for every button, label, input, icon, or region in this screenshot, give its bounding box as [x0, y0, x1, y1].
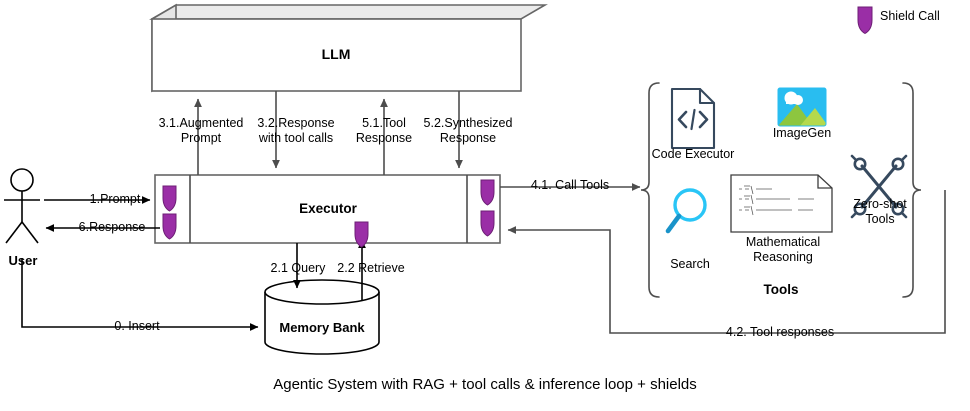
math-document-icon	[731, 175, 832, 232]
image-picture-icon	[778, 88, 828, 126]
tool-label-code-executor: Code Executor	[645, 147, 741, 162]
tool-label-mathematical-reasoning: Mathematical Reasoning	[731, 235, 835, 265]
tools-right-brace	[903, 83, 921, 297]
tool-label-imagegen: ImageGen	[760, 126, 844, 141]
edge-label-tool-responses: 4.2. Tool responses	[660, 325, 900, 340]
diagram-caption: Agentic System with RAG + tool calls & i…	[0, 376, 970, 393]
edge-label-synthesized-response: 5.2.Synthesized Response	[407, 116, 529, 146]
edge-label-call-tools: 4.1. Call Tools	[516, 178, 624, 193]
legend-shield-label: Shield Call	[880, 9, 970, 24]
tools-group-label: Tools	[736, 282, 826, 297]
llm-label: LLM	[286, 47, 386, 62]
user-label: User	[0, 253, 46, 268]
edge-label-response: 6.Response	[52, 220, 172, 235]
edge-label-retrieve: 2.2 Retrieve	[325, 261, 417, 276]
tool-label-search: Search	[655, 257, 725, 272]
memory-bank-label: Memory Bank	[272, 320, 372, 335]
edge-label-insert: 0. Insert	[62, 319, 212, 334]
edge-insert	[22, 258, 258, 327]
diagram-canvas: LLM Executor Memory Bank User Tools 1.Pr…	[0, 0, 970, 411]
code-document-icon	[672, 89, 714, 148]
edge-label-prompt: 1.Prompt	[60, 192, 170, 207]
user-actor-shape	[4, 169, 40, 243]
tool-label-zero-shot-tools: Zero-shot Tools	[841, 197, 919, 227]
executor-label: Executor	[278, 201, 378, 216]
magnifier-icon	[668, 190, 705, 231]
